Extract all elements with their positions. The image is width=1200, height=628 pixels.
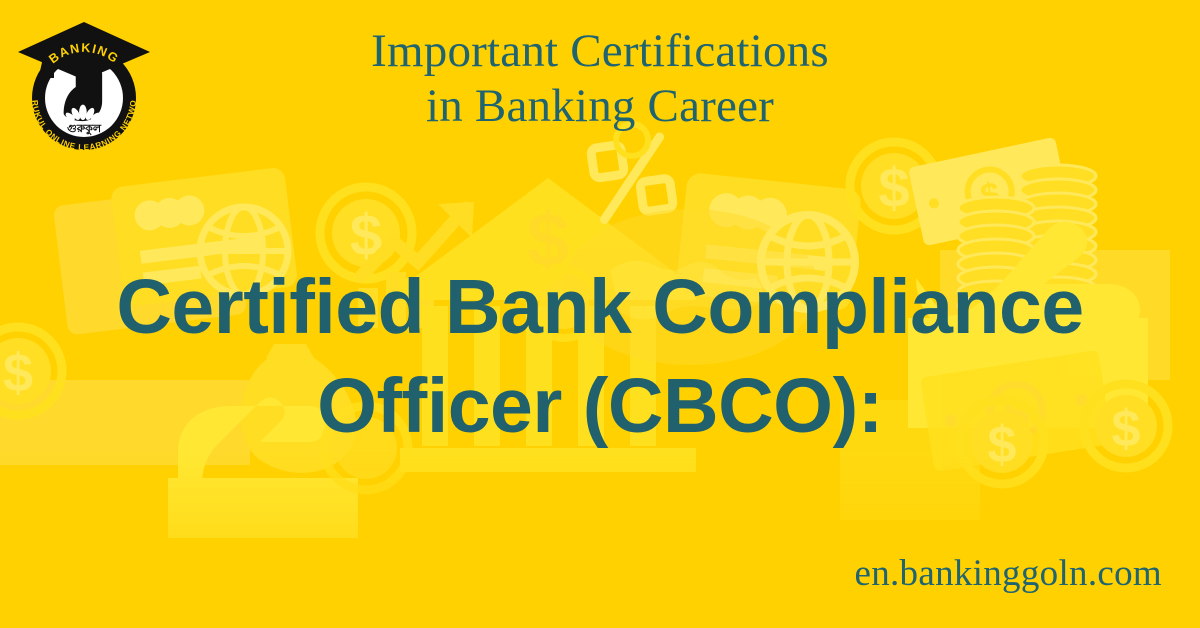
logo: গুরুকুল BANKING GURUKUL ONLINE LEARNING … (14, 12, 154, 164)
logo-script-text: গুরুকুল (67, 123, 102, 136)
banknote-icon: $ (908, 137, 1071, 246)
svg-text:$: $ (878, 156, 909, 219)
title-line-2: Officer (CBCO): (40, 357, 1160, 456)
footer-website-url[interactable]: en.bankinggoln.com (854, 552, 1162, 595)
dollar-coin-icon: $ (850, 142, 938, 230)
svg-text:$: $ (977, 175, 1003, 216)
percent-icon (590, 136, 674, 220)
svg-text:$: $ (3, 343, 33, 403)
page-title: Certified Bank Compliance Officer (CBCO)… (40, 258, 1160, 455)
header-subtitle: Important Certifications in Banking Care… (270, 24, 930, 135)
header-line-2: in Banking Career (270, 79, 930, 134)
header-line-1: Important Certifications (270, 24, 930, 79)
title-line-1: Certified Bank Compliance (40, 258, 1160, 357)
banner-root: $ $ (0, 0, 1200, 628)
